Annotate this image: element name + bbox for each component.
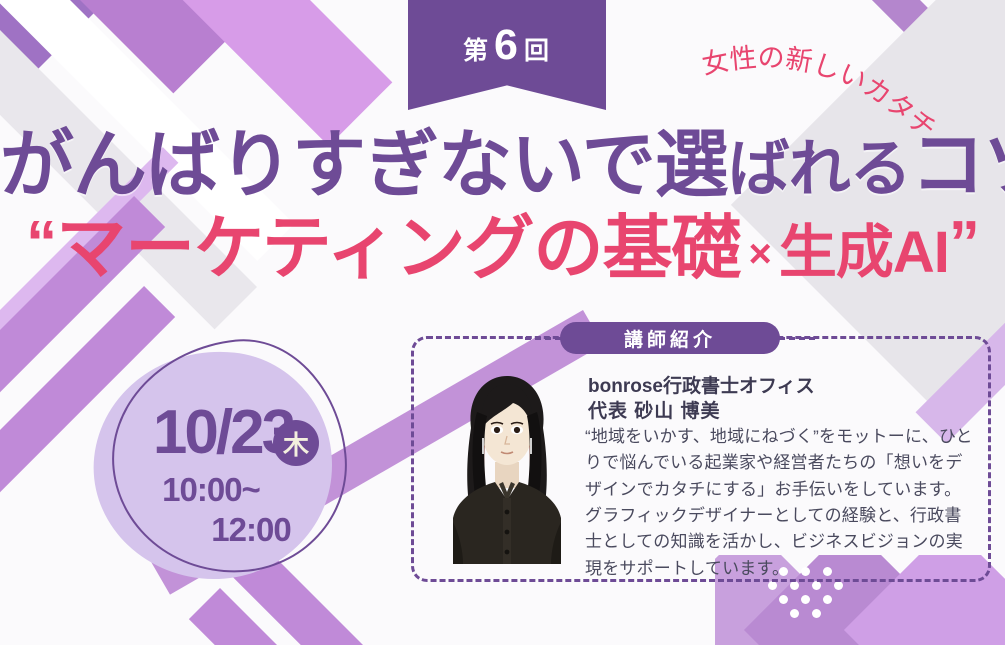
badge-dash-left bbox=[525, 337, 561, 340]
subheadline-part-1: マーケティングの bbox=[56, 209, 602, 287]
date-blob: 10/23 木 10:00~ 12:00 bbox=[88, 345, 353, 585]
episode-suffix: 回 bbox=[524, 31, 551, 67]
speaker-organization: bonrose行政書士オフィス bbox=[588, 371, 815, 398]
handwritten-tagline: 女性の新しいカタチ bbox=[690, 40, 1005, 190]
open-quote: “ bbox=[26, 209, 56, 278]
subheadline-part-3: 生成AI bbox=[779, 220, 949, 285]
weekday-badge: 木 bbox=[273, 420, 319, 466]
subheadline-part-2: 基礎 bbox=[603, 209, 741, 287]
close-quote: ” bbox=[949, 209, 979, 278]
handwritten-tagline-text: 女性の新しいカタチ bbox=[699, 42, 941, 145]
event-time-start: 10:00~ bbox=[106, 471, 316, 509]
episode-number: 6 bbox=[490, 24, 524, 67]
speaker-name: 代表 砂山 博美 bbox=[588, 396, 721, 423]
date-blob-content: 10/23 木 10:00~ 12:00 bbox=[88, 345, 353, 585]
event-flyer: 第 6 回 がんばりすぎないで選ばれるコツ “マーケティングの基礎×生成AI” … bbox=[0, 0, 1005, 645]
event-time-end: 12:00 bbox=[146, 511, 356, 549]
speaker-description: “地域をいかす、地域にねづく”をモットーに、ひとりで悩んでいる起業家や経営者たち… bbox=[585, 424, 977, 582]
subheadline: “マーケティングの基礎×生成AI” bbox=[0, 213, 1005, 283]
episode-prefix: 第 bbox=[463, 31, 490, 67]
chevron-right-lower bbox=[189, 588, 524, 645]
badge-dash-right bbox=[779, 337, 815, 340]
cross-icon: × bbox=[741, 232, 779, 276]
episode-ribbon-text: 第 6 回 bbox=[463, 24, 551, 67]
speaker-card-badge: 講師紹介 bbox=[560, 322, 780, 354]
diagonal-band-top-right-b bbox=[676, 0, 933, 37]
speaker-portrait bbox=[437, 366, 577, 564]
headline-part-1: がんばりすぎないで bbox=[0, 123, 655, 206]
